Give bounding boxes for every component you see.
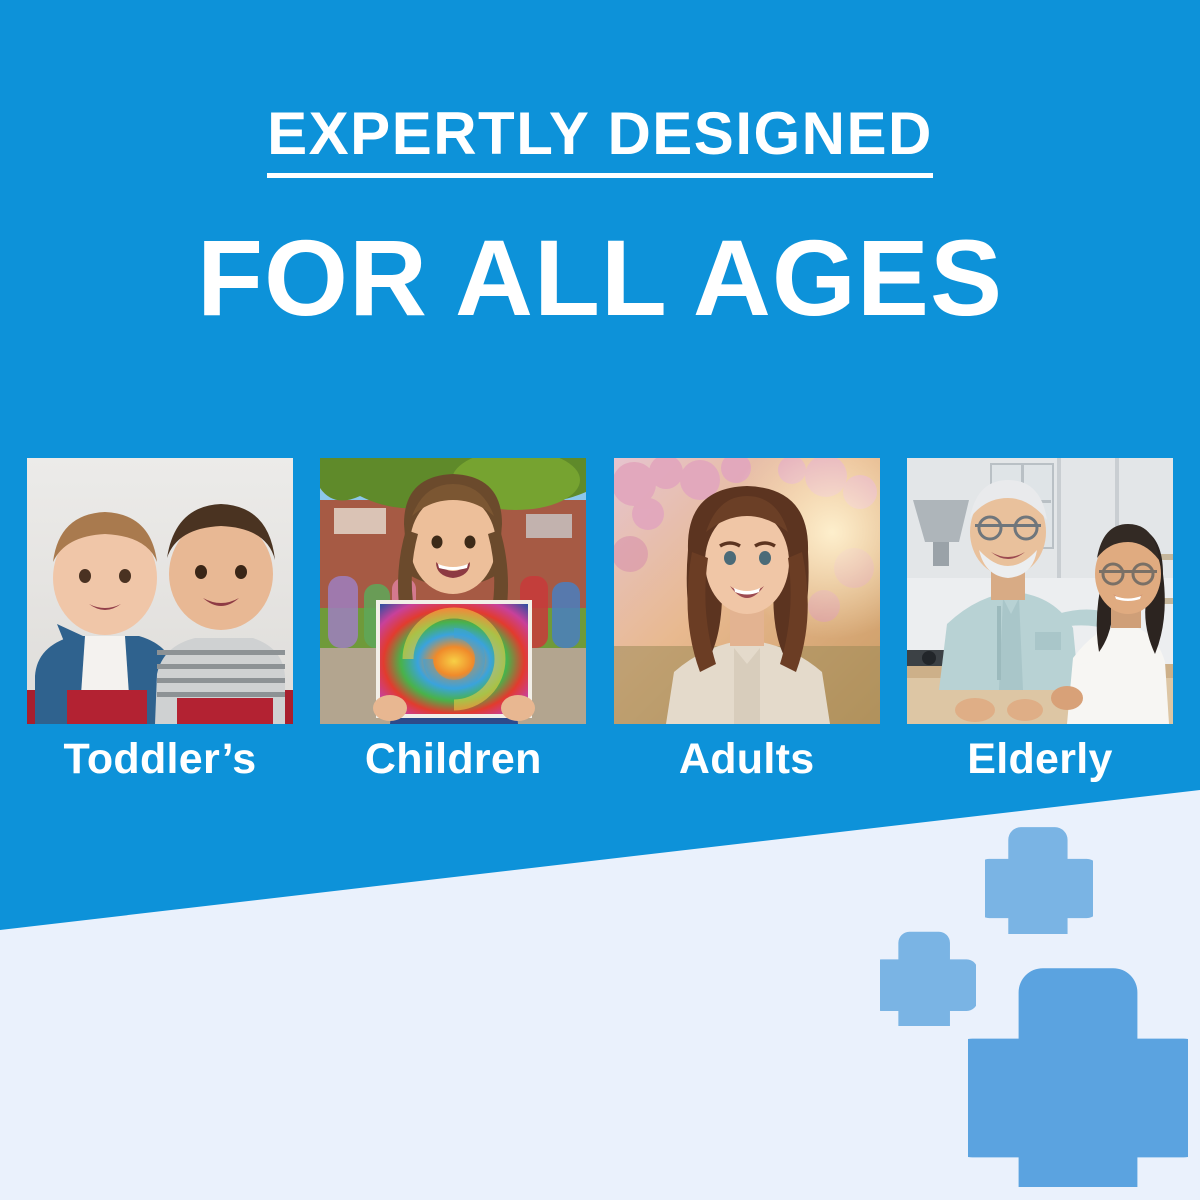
photo-children [320,458,586,724]
medical-cross-large-icon [968,965,1188,1187]
age-group-card-elderly [907,458,1173,724]
medical-cross-small-icon [880,930,976,1026]
age-group-photo-row [27,458,1173,724]
caption-adults: Adults [614,736,880,783]
caption-children: Children [320,736,586,783]
age-group-card-toddlers [27,458,293,724]
caption-elderly: Elderly [907,736,1173,783]
medical-cross-medium-icon [985,824,1093,934]
age-group-card-children [320,458,586,724]
age-group-caption-row: Toddler’s Children Adults Elderly [27,736,1173,783]
caption-toddlers: Toddler’s [27,736,293,783]
age-group-card-adults [614,458,880,724]
photo-toddlers [27,458,293,724]
photo-adults [614,458,880,724]
poster-canvas: EXPERTLY DESIGNED FOR ALL AGES [0,0,1200,1200]
photo-elderly [907,458,1173,724]
